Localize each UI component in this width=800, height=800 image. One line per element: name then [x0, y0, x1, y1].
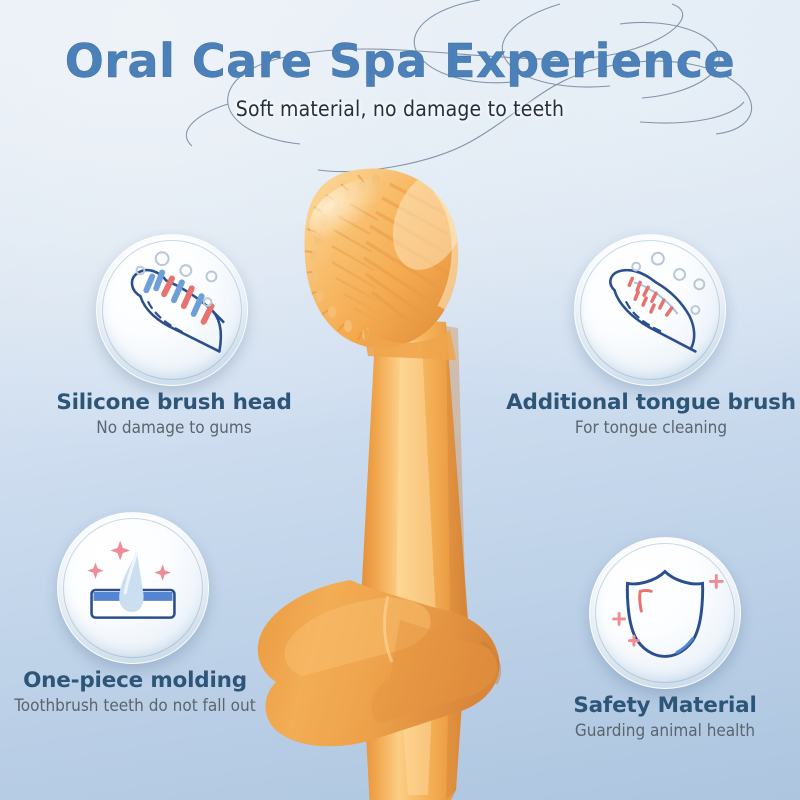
- feature-safety-material[interactable]: Safety Material Guarding animal health: [589, 537, 741, 689]
- feature-text-block: Safety Material Guarding animal health: [545, 693, 785, 741]
- feature-text-block: Additional tongue brush For tongue clean…: [496, 390, 800, 438]
- feature-silicone-brush-head[interactable]: Silicone brush head No damage to gums: [96, 234, 248, 386]
- feature-one-piece-molding[interactable]: One-piece molding Toothbrush teeth do no…: [57, 512, 209, 664]
- product-toothbrush-image: [250, 150, 580, 800]
- header-block: Oral Care Spa Experience Soft material, …: [0, 34, 800, 121]
- feature-heading: One-piece molding: [0, 668, 275, 693]
- feature-subtext: No damage to gums: [54, 418, 294, 438]
- feature-subtext: Guarding animal health: [545, 721, 785, 741]
- feature-icon-bubble: [574, 234, 726, 386]
- feature-additional-tongue-brush[interactable]: Additional tongue brush For tongue clean…: [574, 234, 726, 386]
- toothbrush-head-icon: [97, 235, 247, 385]
- feature-text-block: One-piece molding Toothbrush teeth do no…: [0, 668, 275, 716]
- feature-heading: Additional tongue brush: [496, 390, 800, 415]
- one-piece-mold-icon: [58, 513, 208, 663]
- feature-heading: Safety Material: [545, 693, 785, 718]
- page-subtitle: Soft material, no damage to teeth: [0, 97, 800, 121]
- page-title: Oral Care Spa Experience: [0, 34, 800, 88]
- feature-heading: Silicone brush head: [54, 390, 294, 415]
- feature-icon-bubble: [57, 512, 209, 664]
- feature-subtext: For tongue cleaning: [496, 418, 800, 438]
- feature-icon-bubble: [589, 537, 741, 689]
- feature-text-block: Silicone brush head No damage to gums: [54, 390, 294, 438]
- feature-icon-bubble: [96, 234, 248, 386]
- shield-icon: [590, 538, 740, 688]
- feature-subtext: Toothbrush teeth do not fall out: [0, 696, 275, 716]
- tongue-brush-icon: [575, 235, 725, 385]
- infographic-canvas: Oral Care Spa Experience Soft material, …: [0, 0, 800, 800]
